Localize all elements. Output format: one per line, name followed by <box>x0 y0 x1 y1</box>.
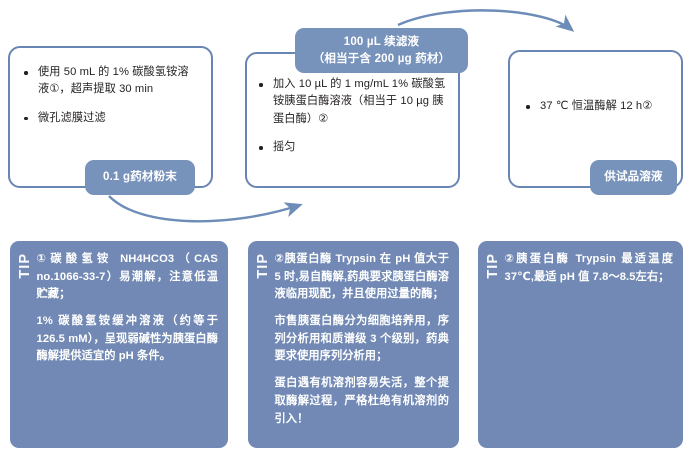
arrow-step1-to-step2 <box>109 196 300 221</box>
badge-filtrate-line-1: 100 µL 续滤液 <box>313 34 451 51</box>
tip-label-2: TIP <box>256 253 271 279</box>
step-1-bullet-1: 使用 50 mL 的 1% 碳酸氢铵溶液①，超声提取 30 min <box>22 64 197 99</box>
tip-body-3: ②胰蛋白酶 Trypsin 最适温度 37℃,最适 pH 值 7.8～8.5左右… <box>505 251 674 286</box>
tip-label-1: TIP <box>18 253 33 279</box>
step-3-bullet-list: 37 ℃ 恒温酶解 12 h② <box>524 98 669 115</box>
tip-body-1: ①碳酸氢铵 NH4HCO3（CAS no.1066-33-7）易潮解，注意低温贮… <box>37 251 219 366</box>
badge-filtrate-line-2: （相当于含 200 µg 药材） <box>313 51 451 68</box>
tip-3-paragraph-1: ②胰蛋白酶 Trypsin 最适温度 37℃,最适 pH 值 7.8～8.5左右… <box>505 251 674 286</box>
badge-filtrate: 100 µL 续滤液 （相当于含 200 µg 药材） <box>295 28 468 73</box>
step-2-bullet-1: 加入 10 µL 的 1 mg/mL 1% 碳酸氢铵胰蛋白酶溶液（相当于 10 … <box>257 76 446 128</box>
badge-test-solution: 供试品溶液 <box>590 160 677 195</box>
step-2-bullet-2: 摇匀 <box>257 139 446 156</box>
step-2-bullet-list: 加入 10 µL 的 1 mg/mL 1% 碳酸氢铵胰蛋白酶溶液（相当于 10 … <box>257 76 446 156</box>
badge-filtrate-lines: 100 µL 续滤液 （相当于含 200 µg 药材） <box>313 34 451 67</box>
tip-2-paragraph-2: 市售胰蛋白酶分为细胞培养用，序列分析用和质谱级 3 个级别，药典要求使用序列分析… <box>275 313 450 366</box>
step-1-bullet-2: 微孔滤膜过滤 <box>22 110 197 127</box>
step-box-3-content: 37 ℃ 恒温酶解 12 h② <box>510 52 681 115</box>
tip-panel-3: TIP ②胰蛋白酶 Trypsin 最适温度 37℃,最适 pH 值 7.8～8… <box>478 241 683 448</box>
step-1-bullet-list: 使用 50 mL 的 1% 碳酸氢铵溶液①，超声提取 30 min 微孔滤膜过滤 <box>22 64 197 127</box>
tip-panel-2: TIP ②胰蛋白酶 Trypsin 在 pH 值大于 5 时,易自酶解,药典要求… <box>248 241 459 448</box>
step-box-1-content: 使用 50 mL 的 1% 碳酸氢铵溶液①，超声提取 30 min 微孔滤膜过滤 <box>10 48 211 127</box>
tip-label-3: TIP <box>486 253 501 279</box>
flowchart-canvas: 使用 50 mL 的 1% 碳酸氢铵溶液①，超声提取 30 min 微孔滤膜过滤… <box>0 0 691 453</box>
tip-2-paragraph-1: ②胰蛋白酶 Trypsin 在 pH 值大于 5 时,易自酶解,药典要求胰蛋白酶… <box>275 251 450 304</box>
tip-1-paragraph-2: 1% 碳酸氢铵缓冲溶液（约等于 126.5 mM），呈现弱碱性为胰蛋白酶酶解提供… <box>37 313 219 366</box>
step-3-bullet-1: 37 ℃ 恒温酶解 12 h② <box>524 98 669 115</box>
tip-2-paragraph-3: 蛋白遇有机溶剂容易失活，整个提取酶解过程，严格杜绝有机溶剂的引入！ <box>275 375 450 428</box>
tip-body-2: ②胰蛋白酶 Trypsin 在 pH 值大于 5 时,易自酶解,药典要求胰蛋白酶… <box>275 251 450 428</box>
tip-panel-1: TIP ①碳酸氢铵 NH4HCO3（CAS no.1066-33-7）易潮解，注… <box>10 241 228 448</box>
tip-1-paragraph-1: ①碳酸氢铵 NH4HCO3（CAS no.1066-33-7）易潮解，注意低温贮… <box>37 251 219 304</box>
badge-drug-powder: 0.1 g药材粉末 <box>85 160 195 195</box>
